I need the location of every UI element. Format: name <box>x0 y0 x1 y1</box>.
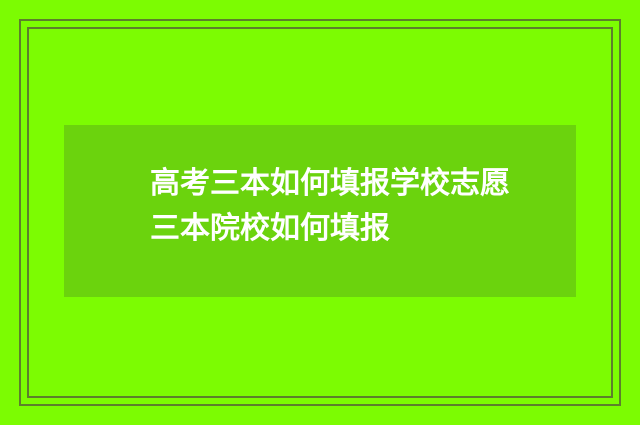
content-panel: 高考三本如何填报学校志愿 三本院校如何填报 <box>64 125 576 297</box>
headline-text: 高考三本如何填报学校志愿 三本院校如何填报 <box>150 161 550 251</box>
poster-canvas: 高考三本如何填报学校志愿 三本院校如何填报 <box>0 0 640 425</box>
